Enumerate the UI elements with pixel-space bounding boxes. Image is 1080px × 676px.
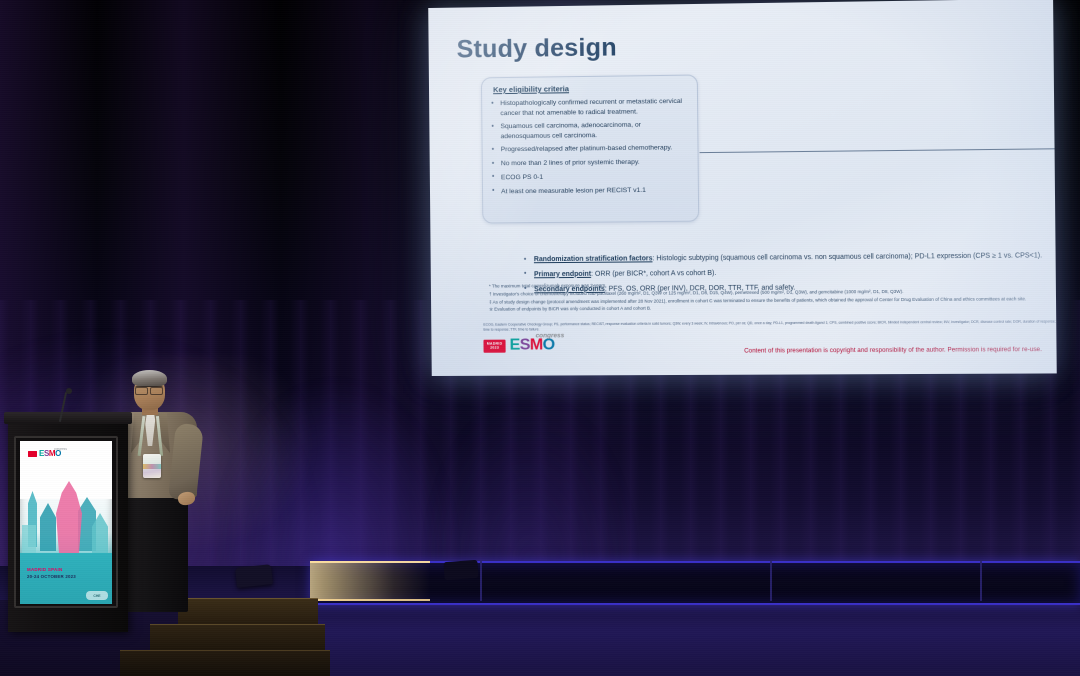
- eligibility-item: At least one measurable lesion per RECIS…: [492, 185, 689, 196]
- slide-title: Study design: [456, 33, 617, 64]
- conference-stage-photo: Study design Key eligibility criteria Hi…: [0, 0, 1080, 676]
- banner-esmo-wordmark: ESMO: [39, 451, 61, 457]
- endpoint-text: : Histologic subtyping (squamous cell ca…: [652, 252, 1042, 262]
- stage-step: [120, 650, 330, 676]
- abbreviations-line: ECOG, Eastern Cooperative Oncology Group…: [483, 319, 1056, 332]
- wall-seam: [980, 561, 982, 601]
- microphone-icon: [66, 388, 72, 394]
- banner-date: 20-24 OCTOBER 2023: [27, 574, 76, 579]
- banner-congress-text: congress: [54, 447, 67, 451]
- connector-line: [700, 152, 712, 153]
- eligibility-criteria-box: Key eligibility criteria Histopathologic…: [481, 75, 699, 224]
- endpoint-label: Randomization stratification factors: [534, 255, 653, 263]
- esmo-letter-e: E: [510, 339, 520, 353]
- speaker-legs: [126, 494, 188, 612]
- copyright-notice: Content of this presentation is copyrigh…: [744, 346, 1042, 355]
- banner-madrid-badge: [28, 451, 37, 457]
- confidence-monitor: [235, 564, 273, 588]
- esmo-congress-text: congress: [536, 332, 565, 339]
- esmo-letter-m: M: [530, 338, 543, 352]
- speaker-badge-stripe: [143, 464, 161, 469]
- banner-esmo-logo: ESMO: [28, 451, 61, 457]
- esmo-logo: MADRID 2023 E S M O congress: [483, 338, 554, 352]
- floor-monitor: [443, 560, 478, 580]
- eligibility-list: Histopathologically confirmed recurrent …: [491, 97, 689, 197]
- madrid-2023-badge: MADRID 2023: [483, 339, 505, 352]
- wall-seam: [480, 561, 482, 601]
- connector-line: [712, 148, 1057, 153]
- projection-screen: Study design Key eligibility criteria Hi…: [428, 0, 1057, 376]
- endpoint-text: : ORR (per BICR*, cohort A vs cohort B).: [591, 270, 716, 278]
- glasses-icon: [135, 386, 163, 393]
- banner-chip: CHE: [86, 591, 108, 600]
- presentation-slide: Study design Key eligibility criteria Hi…: [428, 0, 1057, 376]
- endpoint-label: Primary endpoint: [534, 271, 591, 278]
- eligibility-item: ECOG PS 0-1: [492, 171, 689, 183]
- eligibility-item: Progressed/relapsed after platinum-based…: [492, 144, 689, 156]
- eligibility-item: No more than 2 lines of prior systemic t…: [492, 157, 689, 169]
- skyline-shape: [40, 503, 56, 551]
- esmo-wordmark: E S M O congress: [510, 338, 555, 352]
- speaker-hand: [177, 491, 196, 507]
- eligibility-item: Histopathologically confirmed recurrent …: [491, 97, 688, 118]
- endpoint-randomization: Randomization stratification factors: Hi…: [523, 251, 1057, 265]
- logo-year: 2023: [490, 346, 499, 351]
- wall-seam: [770, 561, 772, 601]
- eligibility-item: Squamous cell carcinoma, adenocarcinoma,…: [491, 120, 688, 141]
- esmo-letter-o: O: [543, 338, 555, 352]
- eligibility-heading: Key eligibility criteria: [493, 83, 688, 95]
- stage-wall-warm-light: [310, 561, 430, 601]
- footnotes: * The maximum total camrelizumab exposur…: [489, 280, 1057, 315]
- speaker-hair: [132, 370, 167, 387]
- skyline-shape: [22, 525, 36, 553]
- podium-top-surface: [4, 412, 132, 424]
- esmo-letter-s: S: [520, 338, 530, 352]
- banner-city: MADRID SPAIN: [27, 567, 62, 574]
- podium-banner: ESMO congress MADRID SPAIN 20-24 OCTOBER…: [20, 441, 112, 604]
- endpoint-primary: Primary endpoint: ORR (per BICR*, cohort…: [523, 266, 1057, 279]
